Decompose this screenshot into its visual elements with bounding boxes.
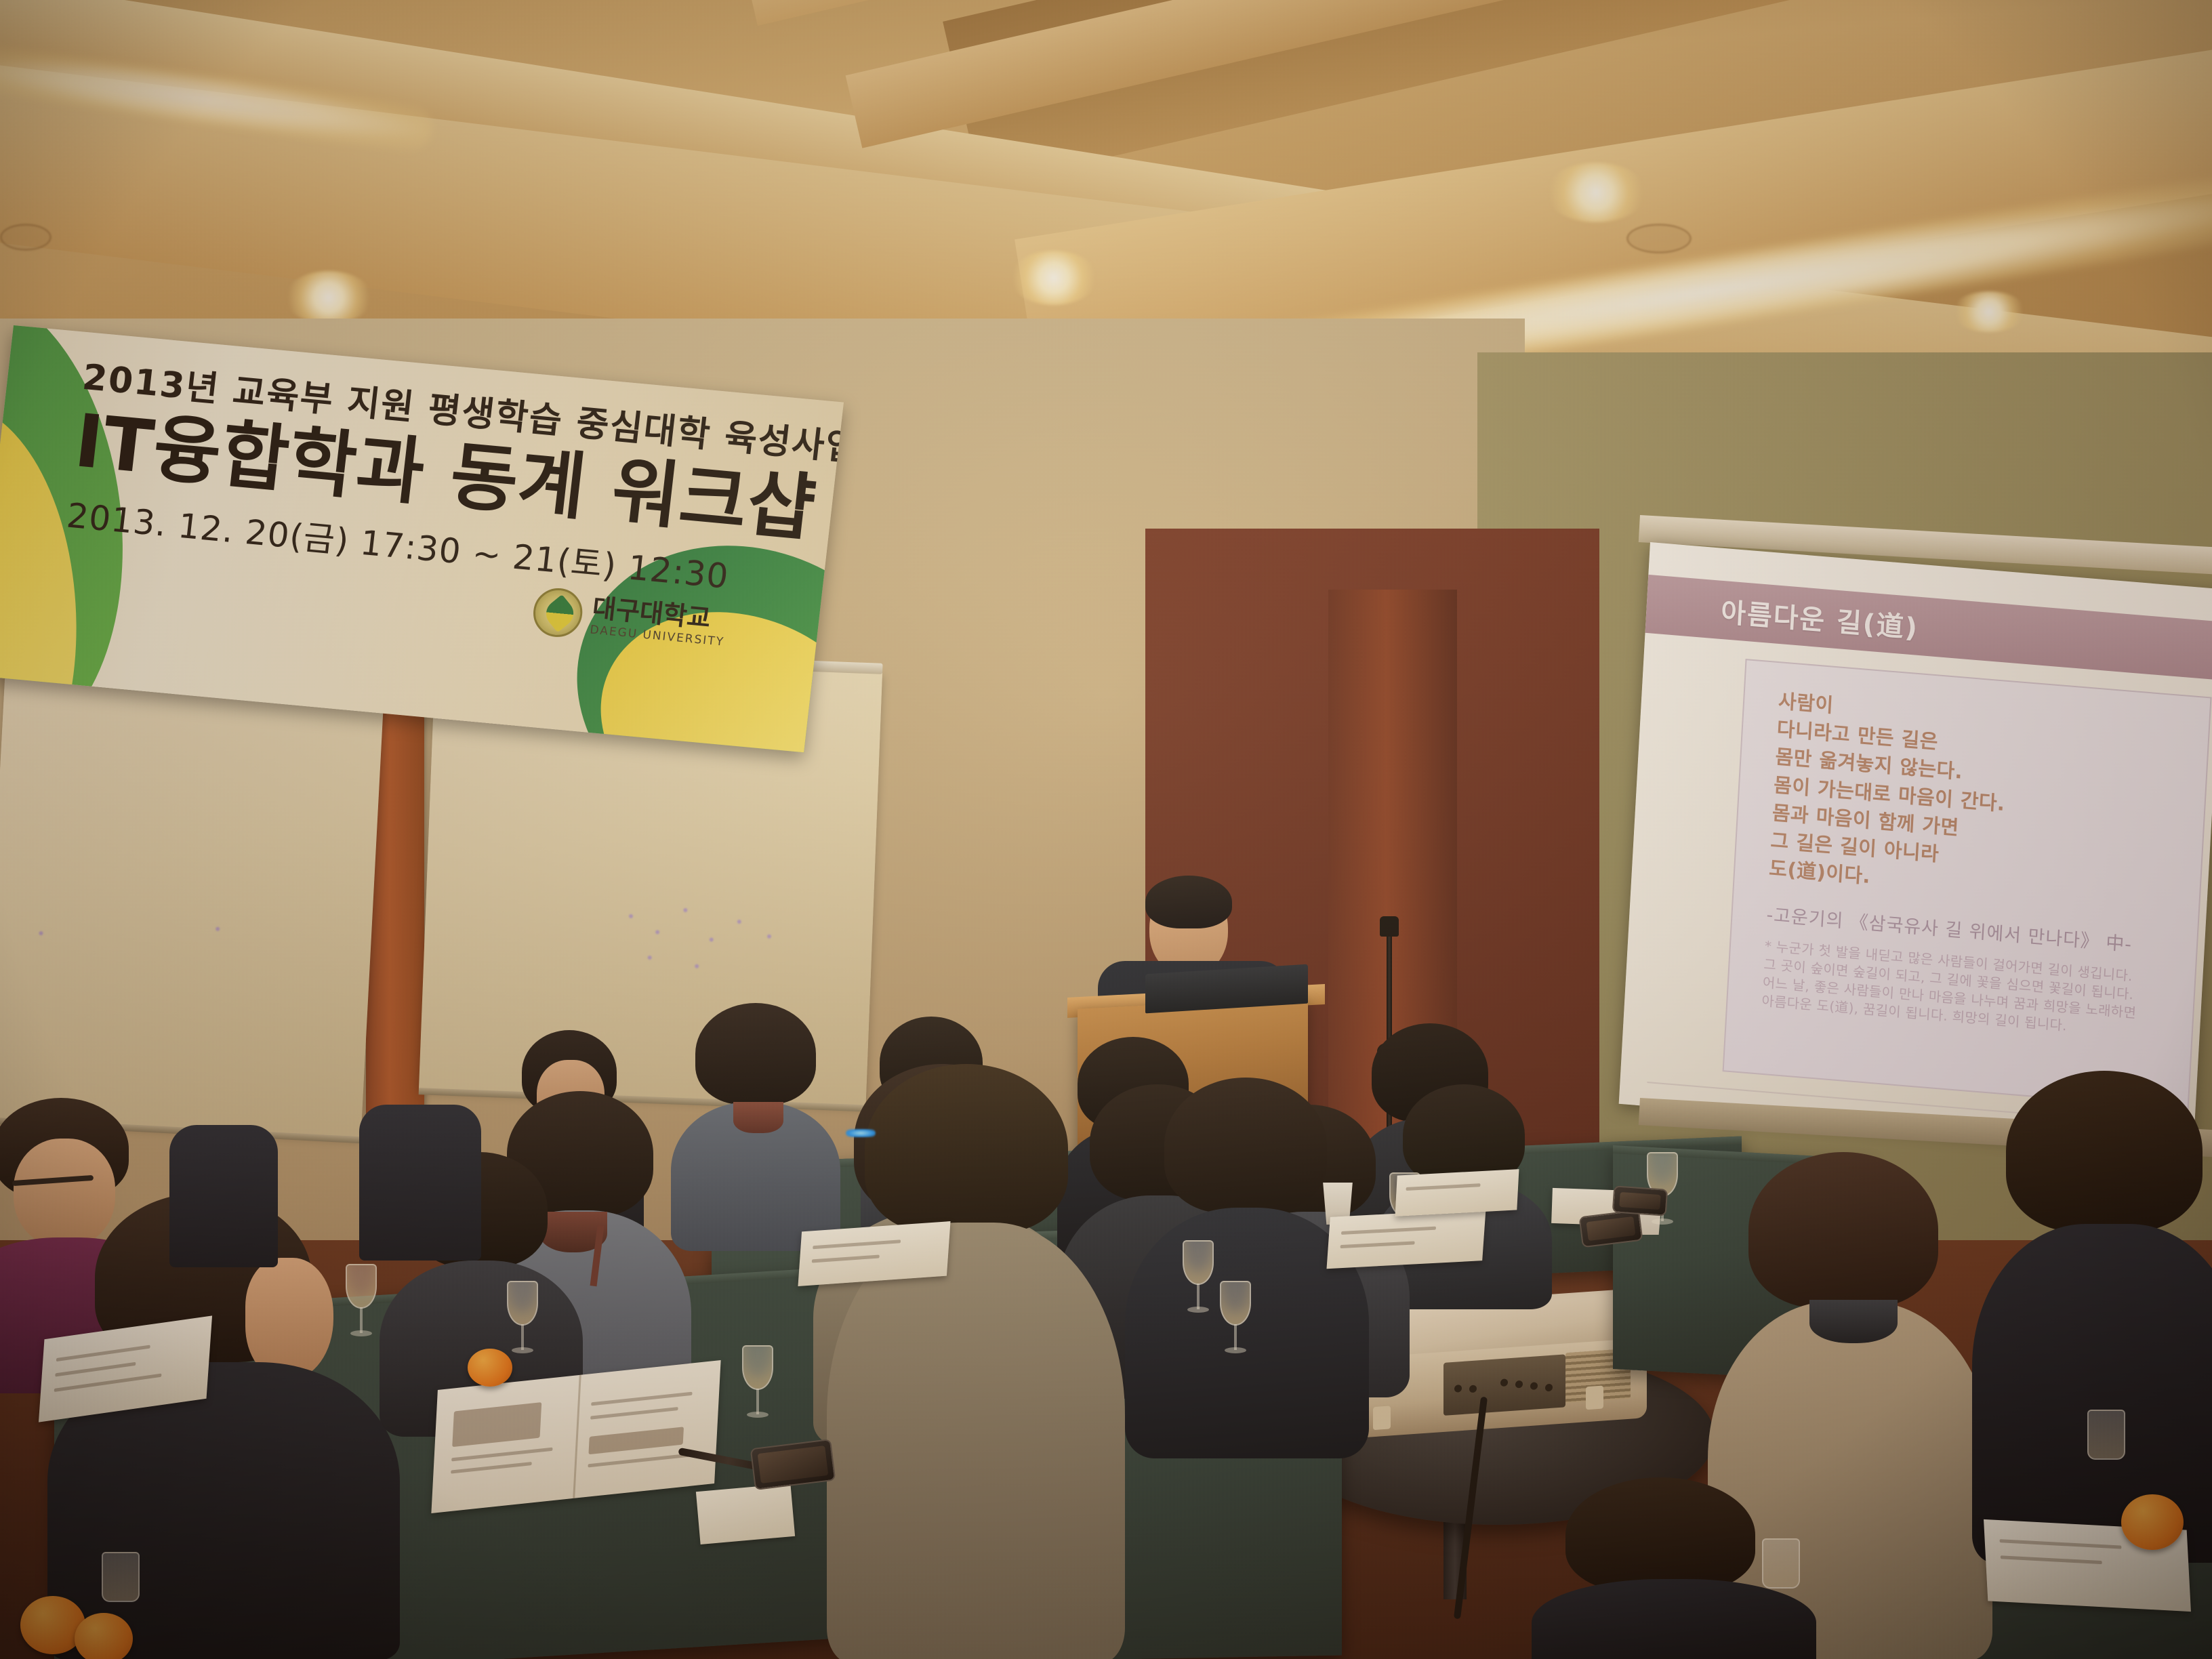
handout: [1395, 1169, 1519, 1216]
microphone-icon: [1380, 916, 1399, 937]
handout: [1326, 1209, 1486, 1269]
daegu-university-emblem-icon: [531, 586, 585, 639]
downlight-icon-2: [1010, 251, 1098, 305]
downlight-icon-3: [1545, 163, 1647, 222]
downlight-icon-4: [1952, 291, 2026, 332]
attendee-collar: [1809, 1300, 1898, 1343]
slide-content-panel: 사람이 다니라고 만든 길은 몸만 옮겨놓지 않는다. 몸이 가는대로 마음이 …: [1723, 659, 2212, 1110]
water-glass: [2087, 1410, 2125, 1460]
downlight-icon-1: [285, 271, 373, 324]
projector-foot-left: [1373, 1406, 1391, 1430]
tangerine: [2121, 1494, 2184, 1550]
presenter-hair: [1145, 876, 1232, 928]
audience-member: [1972, 1071, 2212, 1559]
attendee-hair: [2006, 1071, 2203, 1232]
attendee-face: [245, 1258, 333, 1380]
attendee-hair: [695, 1003, 816, 1105]
projector-foot-right: [1586, 1385, 1603, 1410]
chair-back: [169, 1125, 278, 1267]
napkin: [696, 1483, 795, 1544]
handout: [798, 1221, 950, 1286]
attendee-torso: [1532, 1579, 1816, 1659]
ceiling-sprinkler: [0, 224, 52, 251]
blank-projection-screen-left: [0, 672, 384, 1138]
device-power-led-icon: [846, 1129, 876, 1137]
seminar-room-photo: 2013년 교육부 지원 평생학습 중심대학 육성사업 IT융합학과 동계 워크…: [0, 0, 2212, 1659]
tangerine: [468, 1349, 512, 1387]
water-glass: [1762, 1538, 1800, 1589]
tangerine: [75, 1613, 133, 1659]
attendee-hair: [1164, 1078, 1327, 1213]
slide-title-bar: 아름다운 길(道): [1645, 575, 2212, 680]
attendee-collar: [733, 1102, 783, 1133]
attendee-hair: [865, 1064, 1068, 1233]
attendee-hair: [1748, 1152, 1938, 1308]
slide-title: 아름다운 길(道): [1720, 590, 1920, 646]
projection-screen-active: 아름다운 길(道) 사람이 다니라고 만든 길은 몸만 옮겨놓지 않는다. 몸이…: [1619, 542, 2212, 1151]
projector-port-panel: [1443, 1354, 1565, 1416]
water-glass: [102, 1552, 140, 1602]
attendee-sweater: [827, 1223, 1125, 1659]
attendee-hair: [1565, 1477, 1755, 1593]
ceiling-speaker-grille-1: [1626, 224, 1692, 253]
chair-back: [359, 1105, 481, 1261]
audience-member: [827, 1064, 1125, 1659]
smartphone: [1612, 1185, 1668, 1216]
